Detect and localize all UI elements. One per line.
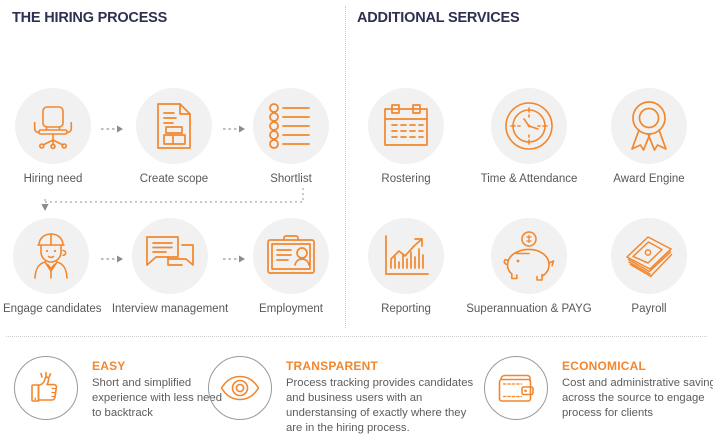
- horizontal-dotted-divider: [6, 336, 707, 337]
- benefit-title: ECONOMICAL: [562, 359, 713, 373]
- benefit-description: Process tracking provides candidates and…: [286, 376, 482, 436]
- service-superannuation-payg[interactable]: Superannuation & PAYG: [465, 218, 593, 315]
- step-label: Interview management: [106, 303, 234, 315]
- piggy-bank-icon: [503, 231, 555, 281]
- infographic-canvas: THE HIRING PROCESS ADDITIONAL SERVICES: [0, 0, 713, 444]
- icon-disc: [368, 88, 444, 164]
- process-step-shortlist[interactable]: Shortlist: [243, 88, 339, 185]
- icon-ring: [208, 356, 272, 420]
- icon-disc: [611, 88, 687, 164]
- service-label: Reporting: [358, 303, 454, 315]
- award-ribbon-icon: [627, 100, 671, 152]
- icon-disc: [253, 88, 329, 164]
- icon-disc: [13, 218, 89, 294]
- benefit-copy: EASY Short and simplified experience wit…: [92, 352, 224, 421]
- section-title-additional-services: ADDITIONAL SERVICES: [357, 10, 519, 26]
- service-label: Payroll: [601, 303, 697, 315]
- process-step-employment[interactable]: Employment: [243, 218, 339, 315]
- clock-icon: [504, 101, 554, 151]
- checklist-icon: [266, 103, 316, 149]
- service-label: Time & Attendance: [465, 173, 593, 185]
- icon-disc: [368, 218, 444, 294]
- cash-stack-icon: [624, 233, 674, 279]
- office-chair-icon: [27, 100, 79, 152]
- step-label: Shortlist: [243, 173, 339, 185]
- service-award-engine[interactable]: Award Engine: [601, 88, 697, 185]
- service-time-attendance[interactable]: Time & Attendance: [465, 88, 593, 185]
- icon-disc: [491, 218, 567, 294]
- icon-disc: [15, 88, 91, 164]
- id-badge-icon: [265, 234, 317, 278]
- wallet-icon: [498, 373, 534, 403]
- step-label: Engage candidates: [3, 303, 99, 315]
- service-payroll[interactable]: Payroll: [601, 218, 697, 315]
- benefit-copy: ECONOMICAL Cost and administrative savin…: [562, 352, 713, 421]
- icon-ring: [484, 356, 548, 420]
- icon-disc: [491, 88, 567, 164]
- benefit-transparent[interactable]: TRANSPARENT Process tracking provides ca…: [208, 352, 482, 436]
- vertical-dotted-divider: [345, 6, 346, 328]
- step-label: Create scope: [126, 173, 222, 185]
- step-label: Employment: [243, 303, 339, 315]
- benefit-title: TRANSPARENT: [286, 359, 482, 373]
- icon-disc: [136, 88, 212, 164]
- benefit-copy: TRANSPARENT Process tracking provides ca…: [286, 352, 482, 436]
- icon-ring: [14, 356, 78, 420]
- bar-chart-growth-icon: [382, 234, 430, 278]
- icon-disc: [611, 218, 687, 294]
- service-rostering[interactable]: Rostering: [358, 88, 454, 185]
- benefit-description: Cost and administrative savings across t…: [562, 376, 713, 421]
- icon-disc: [253, 218, 329, 294]
- thumbs-up-icon: [29, 371, 63, 405]
- eye-icon: [220, 375, 260, 401]
- process-step-engage-candidates[interactable]: Engage candidates: [3, 218, 99, 315]
- dotted-arrow-right-icon: [100, 124, 126, 134]
- benefit-title: EASY: [92, 359, 224, 373]
- service-label: Superannuation & PAYG: [465, 303, 593, 315]
- service-label: Award Engine: [601, 173, 697, 185]
- icon-disc: [132, 218, 208, 294]
- speech-bubbles-icon: [144, 233, 196, 279]
- process-step-hiring-need[interactable]: Hiring need: [5, 88, 101, 185]
- process-step-interview-management[interactable]: Interview management: [106, 218, 234, 315]
- benefit-easy[interactable]: EASY Short and simplified experience wit…: [14, 352, 224, 421]
- document-icon: [151, 101, 197, 151]
- dotted-arrow-down-icon: [28, 188, 308, 220]
- calendar-icon: [382, 103, 430, 149]
- benefit-economical[interactable]: ECONOMICAL Cost and administrative savin…: [484, 352, 713, 421]
- service-label: Rostering: [358, 173, 454, 185]
- step-label: Hiring need: [5, 173, 101, 185]
- section-title-hiring-process: THE HIRING PROCESS: [12, 10, 167, 26]
- service-reporting[interactable]: Reporting: [358, 218, 454, 315]
- candidate-person-icon: [26, 231, 76, 281]
- process-step-create-scope[interactable]: Create scope: [126, 88, 222, 185]
- benefit-description: Short and simplified experience with les…: [92, 376, 224, 421]
